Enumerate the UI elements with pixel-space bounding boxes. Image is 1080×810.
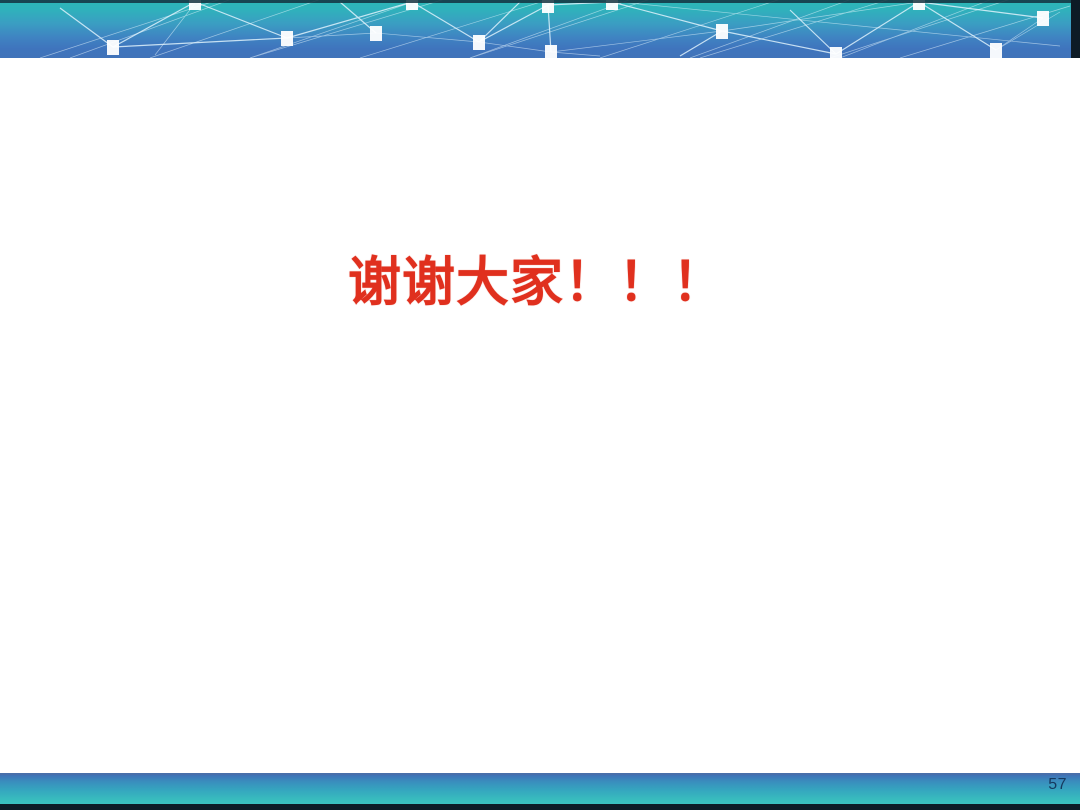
- header-top-edge: [0, 0, 1080, 3]
- footer-bottom-edge: [0, 804, 1080, 810]
- network-pattern-graphic: [0, 0, 1080, 58]
- slide-content-area: 谢谢大家！！！: [0, 58, 1080, 773]
- header-right-edge: [1071, 0, 1080, 58]
- presentation-slide: 谢谢大家！！！ 57: [0, 0, 1080, 810]
- footer-decorative-band: 57: [0, 773, 1080, 810]
- thanks-heading: 谢谢大家！！！: [348, 254, 726, 312]
- footer-top-hairline: [0, 773, 1080, 775]
- header-decorative-banner: [0, 0, 1080, 58]
- page-number: 57: [1048, 776, 1067, 794]
